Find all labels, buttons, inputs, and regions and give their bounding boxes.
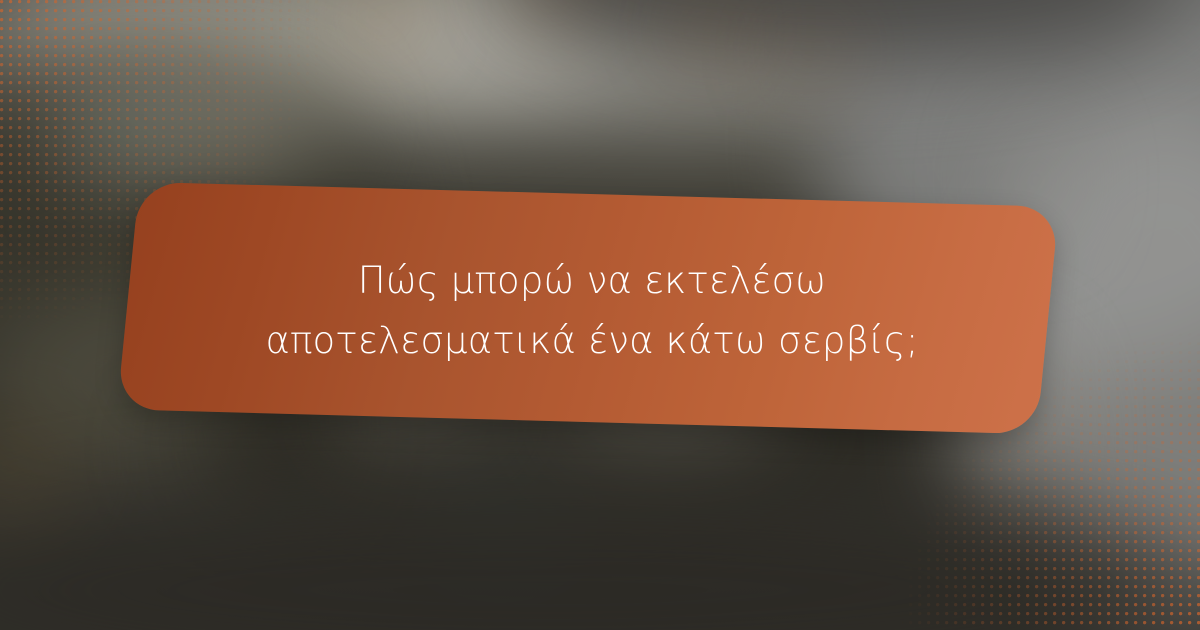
- share-card-canvas: Πώς μπορώ να εκτελέσω αποτελεσματικά ένα…: [0, 0, 1200, 630]
- title-card: Πώς μπορώ να εκτελέσω αποτελεσματικά ένα…: [100, 186, 1076, 436]
- title-card-content: Πώς μπορώ να εκτελέσω αποτελεσματικά ένα…: [100, 186, 1076, 436]
- page-title: Πώς μπορώ να εκτελέσω αποτελεσματικά ένα…: [204, 251, 980, 371]
